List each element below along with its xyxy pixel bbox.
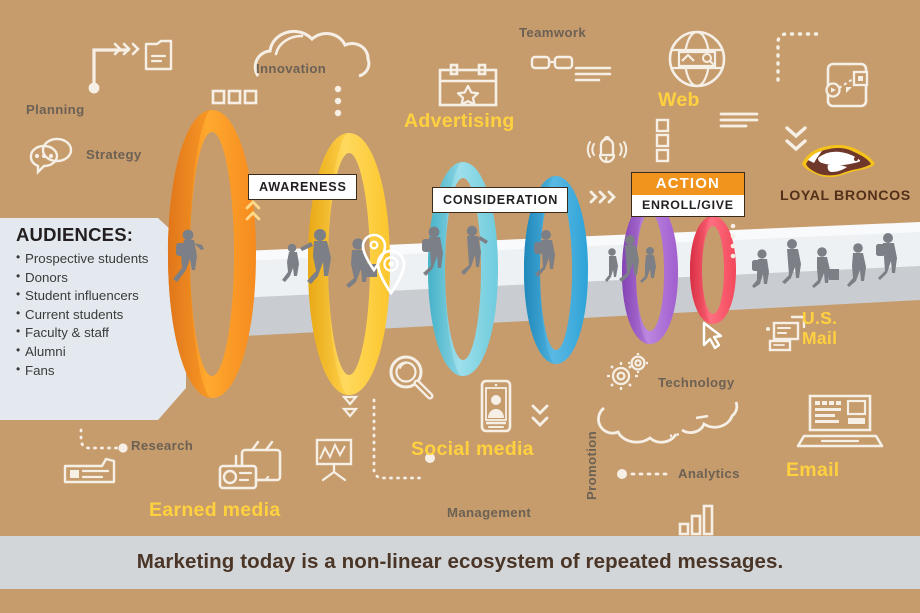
label-social-media: Social media <box>411 438 534 461</box>
smartphone-profile-icon <box>478 378 514 434</box>
tv-radio-icon <box>216 440 286 496</box>
stage-label-action-sub: ENROLL/GIVE <box>632 195 744 216</box>
stage-label-action-title: ACTION <box>632 173 744 195</box>
label-management: Management <box>447 505 531 520</box>
dots-vertical-small-icon <box>728 222 738 264</box>
presentation-chart-icon <box>312 437 356 483</box>
label-promotion: Promotion <box>584 431 599 500</box>
people-group-1 <box>168 226 216 288</box>
laptop-icon <box>794 392 886 452</box>
people-group-4 <box>530 226 564 284</box>
chevron-right-triple-small-icon <box>588 188 620 211</box>
stage-label-consideration: CONSIDERATION <box>432 187 568 213</box>
newspaper-icon <box>62 455 118 487</box>
label-earned-media: Earned media <box>149 499 280 522</box>
label-email: Email <box>786 459 840 482</box>
stage-label-awareness: AWARENESS <box>248 174 357 200</box>
infographic-canvas: Planning Strategy Innovation <box>0 0 920 613</box>
triangle-down-double-icon <box>340 392 360 427</box>
label-us-mail-line2: Mail <box>802 328 837 348</box>
bar-chart-icon <box>676 502 718 536</box>
people-group-3 <box>420 222 498 284</box>
chevron-down-double-small-icon <box>528 400 552 434</box>
people-group-5 <box>604 232 666 288</box>
label-analytics: Analytics <box>678 466 740 481</box>
cloud-dashed-icon <box>600 392 780 452</box>
stage-label-action: ACTION ENROLL/GIVE <box>631 172 745 217</box>
label-us-mail: U.S. Mail <box>802 308 837 348</box>
caption-text: Marketing today is a non-linear ecosyste… <box>0 550 920 574</box>
label-technology: Technology <box>658 375 735 390</box>
label-us-mail-line1: U.S. <box>802 308 837 328</box>
label-research: Research <box>131 438 193 453</box>
dot-leader-icon <box>616 466 676 482</box>
gears-icon <box>604 352 654 394</box>
chevron-up-double-icon <box>243 195 263 232</box>
people-group-6 <box>748 228 906 290</box>
map-pin-target-icon <box>374 248 408 298</box>
